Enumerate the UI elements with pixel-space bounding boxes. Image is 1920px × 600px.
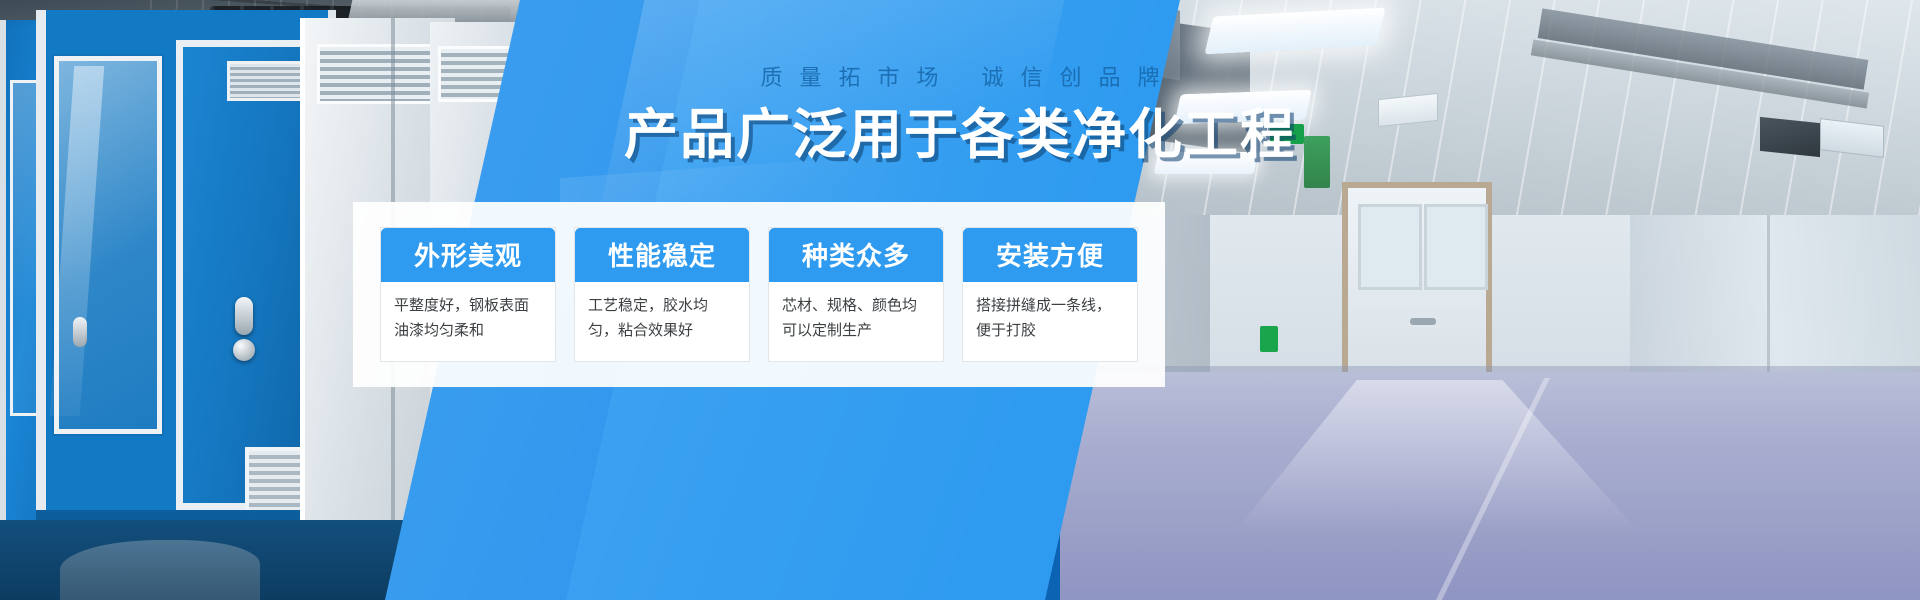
door-handle <box>1410 318 1436 325</box>
feature-card-title: 安装方便 <box>963 228 1137 282</box>
promo-banner: 质量拓市场诚信创品牌 产品广泛用于各类净化工程 外形美观 平整度好，钢板表面油漆… <box>0 0 1920 600</box>
banner-headline: 产品广泛用于各类净化工程 <box>0 103 1920 167</box>
feature-card[interactable]: 性能稳定 工艺稳定，胶水均匀，粘合效果好 <box>574 227 750 362</box>
door-window-left <box>1358 204 1422 290</box>
headline-block: 质量拓市场诚信创品牌 产品广泛用于各类净化工程 <box>0 62 1920 167</box>
banner-subtitle-right: 诚信创品牌 <box>982 66 1177 91</box>
feature-card[interactable]: 安装方便 搭接拼缝成一条线，便于打胶 <box>962 227 1138 362</box>
corridor-green-box <box>1260 326 1278 352</box>
feature-card-body: 工艺稳定，胶水均匀，粘合效果好 <box>575 282 749 361</box>
cabin-b-door-lock <box>233 339 255 361</box>
feature-card[interactable]: 外形美观 平整度好，钢板表面油漆均匀柔和 <box>380 227 556 362</box>
door-window-right <box>1424 204 1488 290</box>
feature-card-title: 外形美观 <box>381 228 555 282</box>
banner-subtitle: 质量拓市场诚信创品牌 <box>0 62 1920 96</box>
banner-subtitle-left: 质量拓市场 <box>760 66 955 91</box>
feature-card-body: 芯材、规格、颜色均可以定制生产 <box>769 282 943 361</box>
feature-cards-row: 外形美观 平整度好，钢板表面油漆均匀柔和 性能稳定 工艺稳定，胶水均匀，粘合效果… <box>353 202 1165 387</box>
feature-card-title: 性能稳定 <box>575 228 749 282</box>
cabin-b-door-handle <box>235 297 253 335</box>
feature-card[interactable]: 种类众多 芯材、规格、颜色均可以定制生产 <box>768 227 944 362</box>
feature-card-title: 种类众多 <box>769 228 943 282</box>
left-ground-highlight <box>60 540 260 600</box>
feature-card-body: 搭接拼缝成一条线，便于打胶 <box>963 282 1137 361</box>
feature-card-body: 平整度好，钢板表面油漆均匀柔和 <box>381 282 555 361</box>
